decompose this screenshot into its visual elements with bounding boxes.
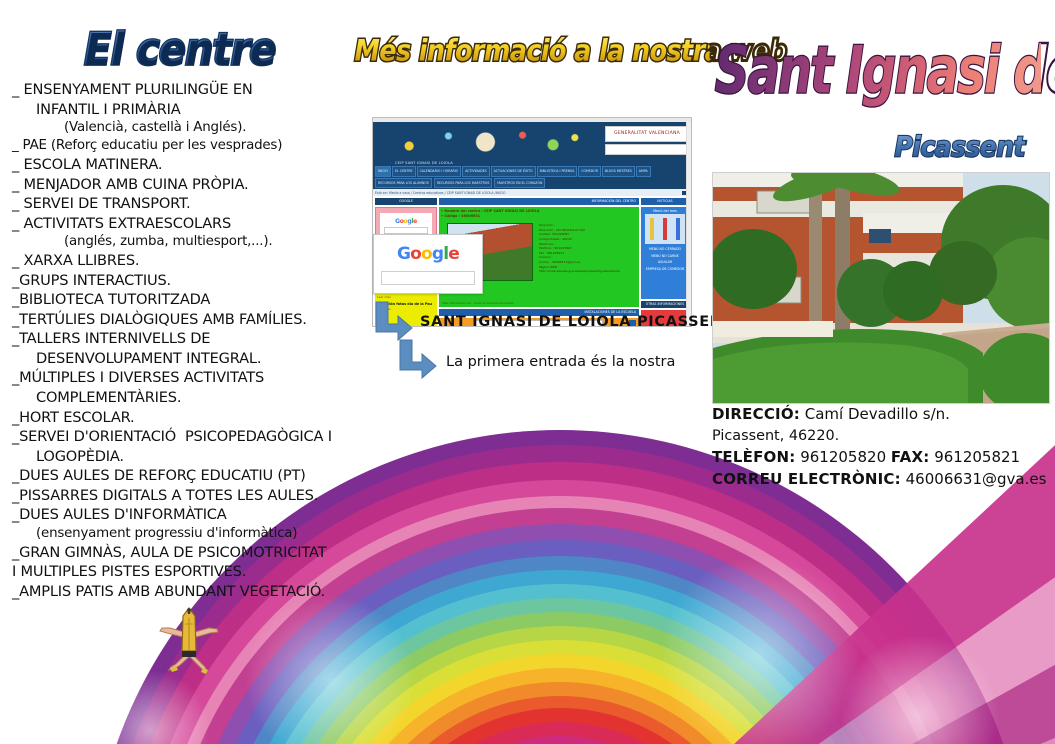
google-logo-letter: g (432, 244, 443, 264)
feature-item: _AMPLIS PATIS AMB ABUNDANT VEGETACIÓ. (12, 582, 352, 602)
feature-item: (ensenyament progressiu d'informàtica) (12, 525, 352, 543)
feature-item: _PISSARRES DIGITALS A TOTES LES AULES. (12, 486, 352, 506)
feature-item: _ MENJADOR AMB CUINA PRÒPIA. (12, 175, 352, 195)
arrow-caption-search-term: SANT IGNASI DE LOIOLA PICASSENT (420, 314, 733, 330)
feature-item: DESENVOLUPAMENT INTEGRAL. (12, 349, 352, 369)
site-menu-items: MENÚ NO CERRADOMENÚ NO CARNEAGUILAREMPRE… (643, 246, 687, 273)
site-info-text: Dirección :Dirección : CM DEVADILLO S/NC… (539, 223, 636, 274)
site-subnav-item[interactable]: RECURSOS PARA LOS MAESTROS (434, 178, 493, 188)
site-other-header: OTRAS INFORMACIONES (641, 301, 689, 308)
feature-item: INFANTIL I PRIMÀRIA (12, 100, 352, 120)
site-search-input[interactable] (605, 144, 689, 155)
pencil-mascot-icon (156, 606, 222, 674)
brochure-page: El centre El centre _ ENSENYAMENT PLURIL… (0, 0, 1055, 744)
features-list: _ ENSENYAMENT PLURILINGÜE ENINFANTIL I P… (12, 80, 352, 601)
feature-item: _ ACTIVITATS EXTRAESCOLARS (12, 214, 352, 234)
contact-block: DIRECCIÓ: Camí Devadillo s/n. Picassent,… (712, 404, 1052, 491)
site-info-line: http://mestreacasa.gva.es/web/ceipsantig… (539, 269, 636, 274)
feature-item: _DUES AULES D'INFORMÀTICA (12, 505, 352, 525)
site-menu-item[interactable]: AGUILAR (643, 259, 687, 266)
email-label: CORREU ELECTRÒNIC: (712, 470, 901, 488)
site-menu-title: Menú del mes (643, 209, 687, 213)
site-nav-item[interactable]: ACTUACIONES DE ÉXITO (491, 166, 536, 177)
site-info-footer: Más información en : Guía de Centros Doc… (442, 301, 514, 305)
site-cutlery-icon (645, 214, 685, 244)
right-panel: Sant Ignasi de Loiola Sant Ignasi de Loi… (704, 0, 1055, 560)
site-nav-item[interactable]: BIBLIOTECA I PRENSA (537, 166, 578, 177)
school-subtitle: Picassent (894, 131, 1025, 163)
left-heading: El centre (84, 23, 274, 79)
feature-item: _GRUPS INTERACTIUS. (12, 271, 352, 291)
middle-panel: Més informació a la nostra web Més infor… (352, 0, 704, 560)
site-info-header: INFORMACIÓN DEL CENTRO (439, 198, 639, 205)
site-google-header: GOOGLE (375, 198, 437, 205)
site-menu-panel: Menú del mes MENÚ NO CERRADOMENÚ NO CARN… (641, 207, 689, 299)
site-menu-item[interactable]: EMPRESA DE COMEDOR (643, 266, 687, 273)
site-subnav-item[interactable]: MAESTROS EN EL CORAZÓN (494, 178, 545, 188)
city-row: Picassent, 46220. (712, 426, 1052, 447)
feature-item: _ ESCOLA MATINERA. (12, 155, 352, 175)
google-search-input[interactable] (381, 271, 475, 285)
feature-item: _TALLERS INTERNIVELLS DE (12, 329, 352, 349)
feature-item: I MULTIPLES PISTES ESPORTIVES. (12, 562, 352, 582)
left-panel: El centre El centre _ ENSENYAMENT PLURIL… (0, 0, 352, 620)
site-notices-header: NOTICIAS (641, 198, 689, 205)
feature-item: _ PAE (Reforç educatiu per les vesprades… (12, 137, 352, 155)
site-nav-item[interactable]: AMPA (636, 166, 651, 177)
site-secondary-nav[interactable]: RECURSOS PARA LOS ALUMNOSRECURSOS PARA L… (373, 177, 691, 189)
site-menu-item[interactable]: MENÚ NO CARNE (643, 253, 687, 260)
site-nav-item[interactable]: CALENDARIO I HORARIO (417, 166, 462, 177)
site-nav-item[interactable]: INICIO (375, 166, 391, 177)
feature-item: _DUES AULES DE REFORÇ EDUCATIU (PT) (12, 466, 352, 486)
site-header: GENERALITAT VALENCIANA CEIP SANT IGNASI … (373, 122, 691, 166)
feature-item: LOGOPÈDIA. (12, 447, 352, 467)
address-value: Camí Devadillo s/n. (805, 405, 950, 423)
email-value: 46006631@gva.es (906, 470, 1047, 488)
google-logo-letter: o (421, 244, 432, 264)
site-menu-item[interactable]: MENÚ NO CERRADO (643, 246, 687, 253)
feature-item: _MÚLTIPLES I DIVERSES ACTIVITATS (12, 368, 352, 388)
breadcrumb-text: Està en: Media a casa / Centros educativ… (375, 191, 506, 195)
google-search-card: Google (373, 234, 483, 294)
feature-item: _HORT ESCOLAR. (12, 408, 352, 428)
site-nav-item[interactable]: EL CENTRE (392, 166, 416, 177)
phone-label: TELÈFON: (712, 448, 795, 466)
site-breadcrumb: Està en: Media a casa / Centros educativ… (373, 189, 691, 196)
phone-row: TELÈFON: 961205820 FAX: 961205821 (712, 447, 1052, 469)
fax-label: FAX: (891, 448, 930, 466)
feature-item: _GRAN GIMNÀS, AULA DE PSICOMOTRICITAT (12, 543, 352, 563)
site-info-bullets: • Nombre del centro : CEIP SANT IGNASI D… (441, 209, 637, 218)
site-subnav-item[interactable]: RECURSOS PARA LOS ALUMNOS (375, 178, 432, 188)
google-logo-letter: o (410, 244, 421, 264)
google-logo-letter: G (397, 244, 410, 264)
feature-item: COMPLEMENTÀRIES. (12, 388, 352, 408)
fax-value: 961205821 (934, 448, 1020, 466)
phone-value: 961205820 (800, 448, 886, 466)
feature-item: (Valencià, castellà i Anglés). (12, 119, 352, 137)
middle-heading: Més informació a la nostra web (355, 26, 710, 78)
website-screenshot: GENERALITAT VALENCIANA CEIP SANT IGNASI … (372, 117, 692, 327)
address-label: DIRECCIÓ: (712, 405, 800, 423)
site-info-bullet: • Código : 46006631 (441, 214, 637, 218)
site-nav-item[interactable]: BLOGS MESTRES (602, 166, 635, 177)
feature-item: _ SERVEI DE TRANSPORT. (12, 194, 352, 214)
arrow-caption-first-result: La primera entrada és la nostra (446, 354, 675, 370)
google-logo-letter: e (448, 244, 459, 264)
feature-item: _SERVEI D'ORIENTACIÓ PSICOPEDAGÒGICA I (12, 427, 352, 447)
site-banner-art (383, 124, 601, 164)
feature-item: _ ENSENYAMENT PLURILINGÜE EN (12, 80, 352, 100)
site-google-input[interactable] (384, 227, 428, 234)
site-nav-item[interactable]: COMEDOR (578, 166, 601, 177)
feature-item: _BIBLIOTECA TUTORITZADA (12, 290, 352, 310)
feature-item: (anglés, zumba, multiesport,...). (12, 233, 352, 251)
google-logo: Google (397, 244, 459, 264)
school-title: Sant Ignasi de Loiola (715, 25, 1041, 121)
feature-item: _TERTÚLIES DIALÒGIQUES AMB FAMÍLIES. (12, 310, 352, 330)
site-logo-text: CEIP SANT IGNASI DE LOIOLA (395, 161, 453, 165)
site-main-nav[interactable]: INICIOEL CENTRECALENDARIO I HORARIOACTIV… (373, 166, 691, 177)
site-right-sidebar: NOTICIAS Menú del mes MENÚ NO CERRADOMEN… (641, 198, 689, 327)
school-building-photo (712, 172, 1050, 404)
generalitat-logo: GENERALITAT VALENCIANA (605, 126, 689, 142)
site-scrollbar[interactable] (686, 122, 691, 326)
site-nav-item[interactable]: ACTIVIDADES (462, 166, 489, 177)
email-row: CORREU ELECTRÒNIC: 46006631@gva.es (712, 469, 1052, 491)
feature-item: _ XARXA LLIBRES. (12, 251, 352, 271)
site-google-logo: Google (395, 218, 417, 225)
site-info-bullet: • Nombre del centro : CEIP SANT IGNASI D… (441, 209, 637, 213)
arrow-down-right-icon-2 (396, 338, 440, 382)
address-row: DIRECCIÓ: Camí Devadillo s/n. (712, 404, 1052, 426)
